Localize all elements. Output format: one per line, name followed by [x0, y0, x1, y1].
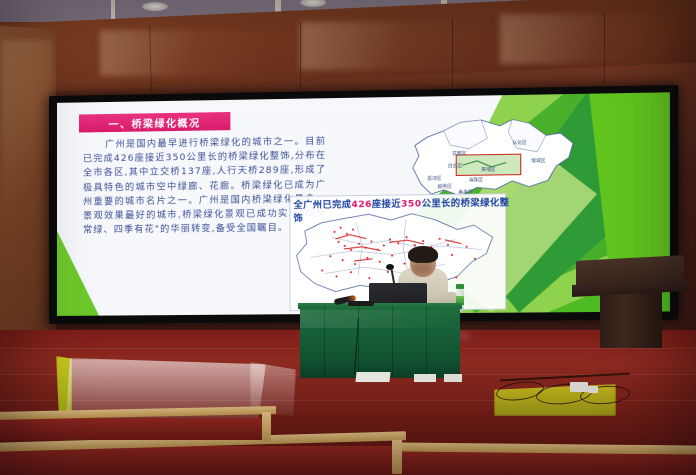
- wall-reflection: [100, 30, 270, 76]
- caption-mid: 座接近: [372, 200, 401, 211]
- wall-reflection: [300, 22, 480, 70]
- wall-panel-seam: [604, 12, 605, 84]
- map-label: 增城区: [531, 158, 545, 164]
- auditorium-photo: 一、桥梁绿化概况 广州是国内最早进行桥梁绿化的城市之一。目前已完成426座接近3…: [0, 0, 696, 475]
- handrail-post: [392, 440, 402, 474]
- map-label: 黄埔区: [481, 167, 495, 173]
- caption-prefix: 全广州已完成: [294, 200, 352, 211]
- speaker-table-cloth: [300, 306, 460, 378]
- map-label: 海珠区: [469, 177, 483, 183]
- caption-number-2: 350: [401, 199, 422, 209]
- wall-panel-seam: [300, 22, 301, 90]
- podium-column: [600, 292, 662, 348]
- caption-number-1: 426: [351, 200, 372, 210]
- map-label: 从化区: [512, 140, 526, 146]
- paper-sheet: [414, 374, 436, 382]
- slide-title-banner: 一、桥梁绿化概况: [79, 112, 230, 133]
- power-strip: [570, 382, 588, 392]
- water-bottle-cap: [456, 284, 464, 289]
- seating-row-wall: [0, 446, 400, 475]
- ceiling-light-icon: [142, 2, 168, 11]
- paper-sheet: [444, 374, 462, 382]
- map-label: 荔湾区: [427, 176, 441, 182]
- seating-row-wall: [400, 452, 696, 475]
- handrail-post: [262, 412, 271, 442]
- power-adapter: [588, 386, 598, 393]
- slide-caption-overlay: 全广州已完成426座接近350公里长的桥梁绿化整饰: [294, 197, 517, 226]
- wall-column-reflection: [2, 40, 52, 240]
- seating-row-wall: [0, 418, 270, 440]
- wall-reflection: [500, 14, 680, 64]
- map-label: 白云区: [448, 163, 462, 169]
- presenter-face-shadow: [412, 262, 432, 274]
- slide-title-text: 一、桥梁绿化概况: [109, 114, 201, 131]
- wall-panel-seam: [452, 18, 453, 88]
- map-label: 越秀区: [438, 184, 452, 190]
- map-label: 花都区: [452, 151, 466, 157]
- paper-sheet: [355, 372, 390, 382]
- presenter-hair: [408, 246, 438, 263]
